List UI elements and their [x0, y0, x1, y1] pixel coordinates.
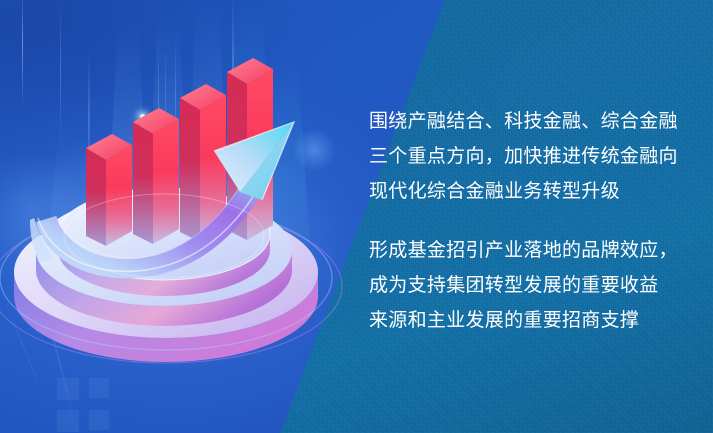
paragraph-1-line-1: 围绕产融结合、科技金融、综合金融	[369, 104, 689, 139]
paragraph-2-line-1: 形成基金招引产业落地的品牌效应，	[369, 233, 689, 268]
paragraph-2-line-2: 成为支持集团转型发展的重要收益	[369, 268, 689, 303]
paragraph-1-line-2: 三个重点方向，加快推进传统金融向	[369, 139, 689, 174]
paragraph-1: 围绕产融结合、科技金融、综合金融 三个重点方向，加快推进传统金融向 现代化综合金…	[369, 104, 689, 209]
growth-chart-illustration	[0, 0, 360, 433]
paragraph-2-line-3: 来源和主业发展的重要招商支撑	[369, 303, 689, 338]
chart-bar	[86, 134, 132, 246]
promo-banner: 围绕产融结合、科技金融、综合金融 三个重点方向，加快推进传统金融向 现代化综合金…	[0, 0, 713, 433]
copy-block: 围绕产融结合、科技金融、综合金融 三个重点方向，加快推进传统金融向 现代化综合金…	[369, 104, 689, 338]
paragraph-2: 形成基金招引产业落地的品牌效应， 成为支持集团转型发展的重要收益 来源和主业发展…	[369, 233, 689, 338]
paragraph-1-line-3: 现代化综合金融业务转型升级	[369, 174, 689, 209]
chart-bar	[133, 108, 179, 244]
